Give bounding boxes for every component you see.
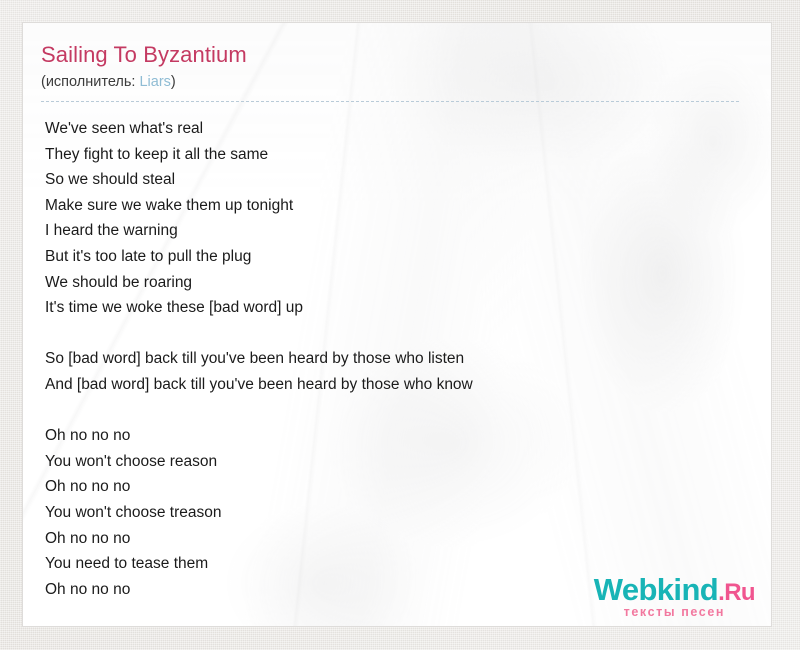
- artist-link[interactable]: Liars: [139, 74, 170, 90]
- site-logo-name: Webkind.Ru: [594, 574, 755, 605]
- panel-inner: Sailing To Byzantium (исполнитель: Liars…: [23, 23, 771, 602]
- site-logo[interactable]: Webkind.Ru тексты песен: [594, 574, 755, 619]
- artist-label-prefix: (исполнитель:: [41, 74, 139, 90]
- site-logo-ru: .Ru: [718, 579, 755, 606]
- page-title: Sailing To Byzantium: [41, 41, 749, 69]
- header-divider: [41, 101, 739, 103]
- site-logo-tagline: тексты песен: [594, 606, 755, 619]
- artist-label-suffix: ): [171, 74, 176, 90]
- artist-line: (исполнитель: Liars): [41, 73, 749, 92]
- lyrics-content-panel: Sailing To Byzantium (исполнитель: Liars…: [22, 22, 772, 627]
- site-logo-webkind: Webkind: [594, 572, 718, 607]
- lyrics-text: We've seen what's real They fight to kee…: [45, 116, 749, 602]
